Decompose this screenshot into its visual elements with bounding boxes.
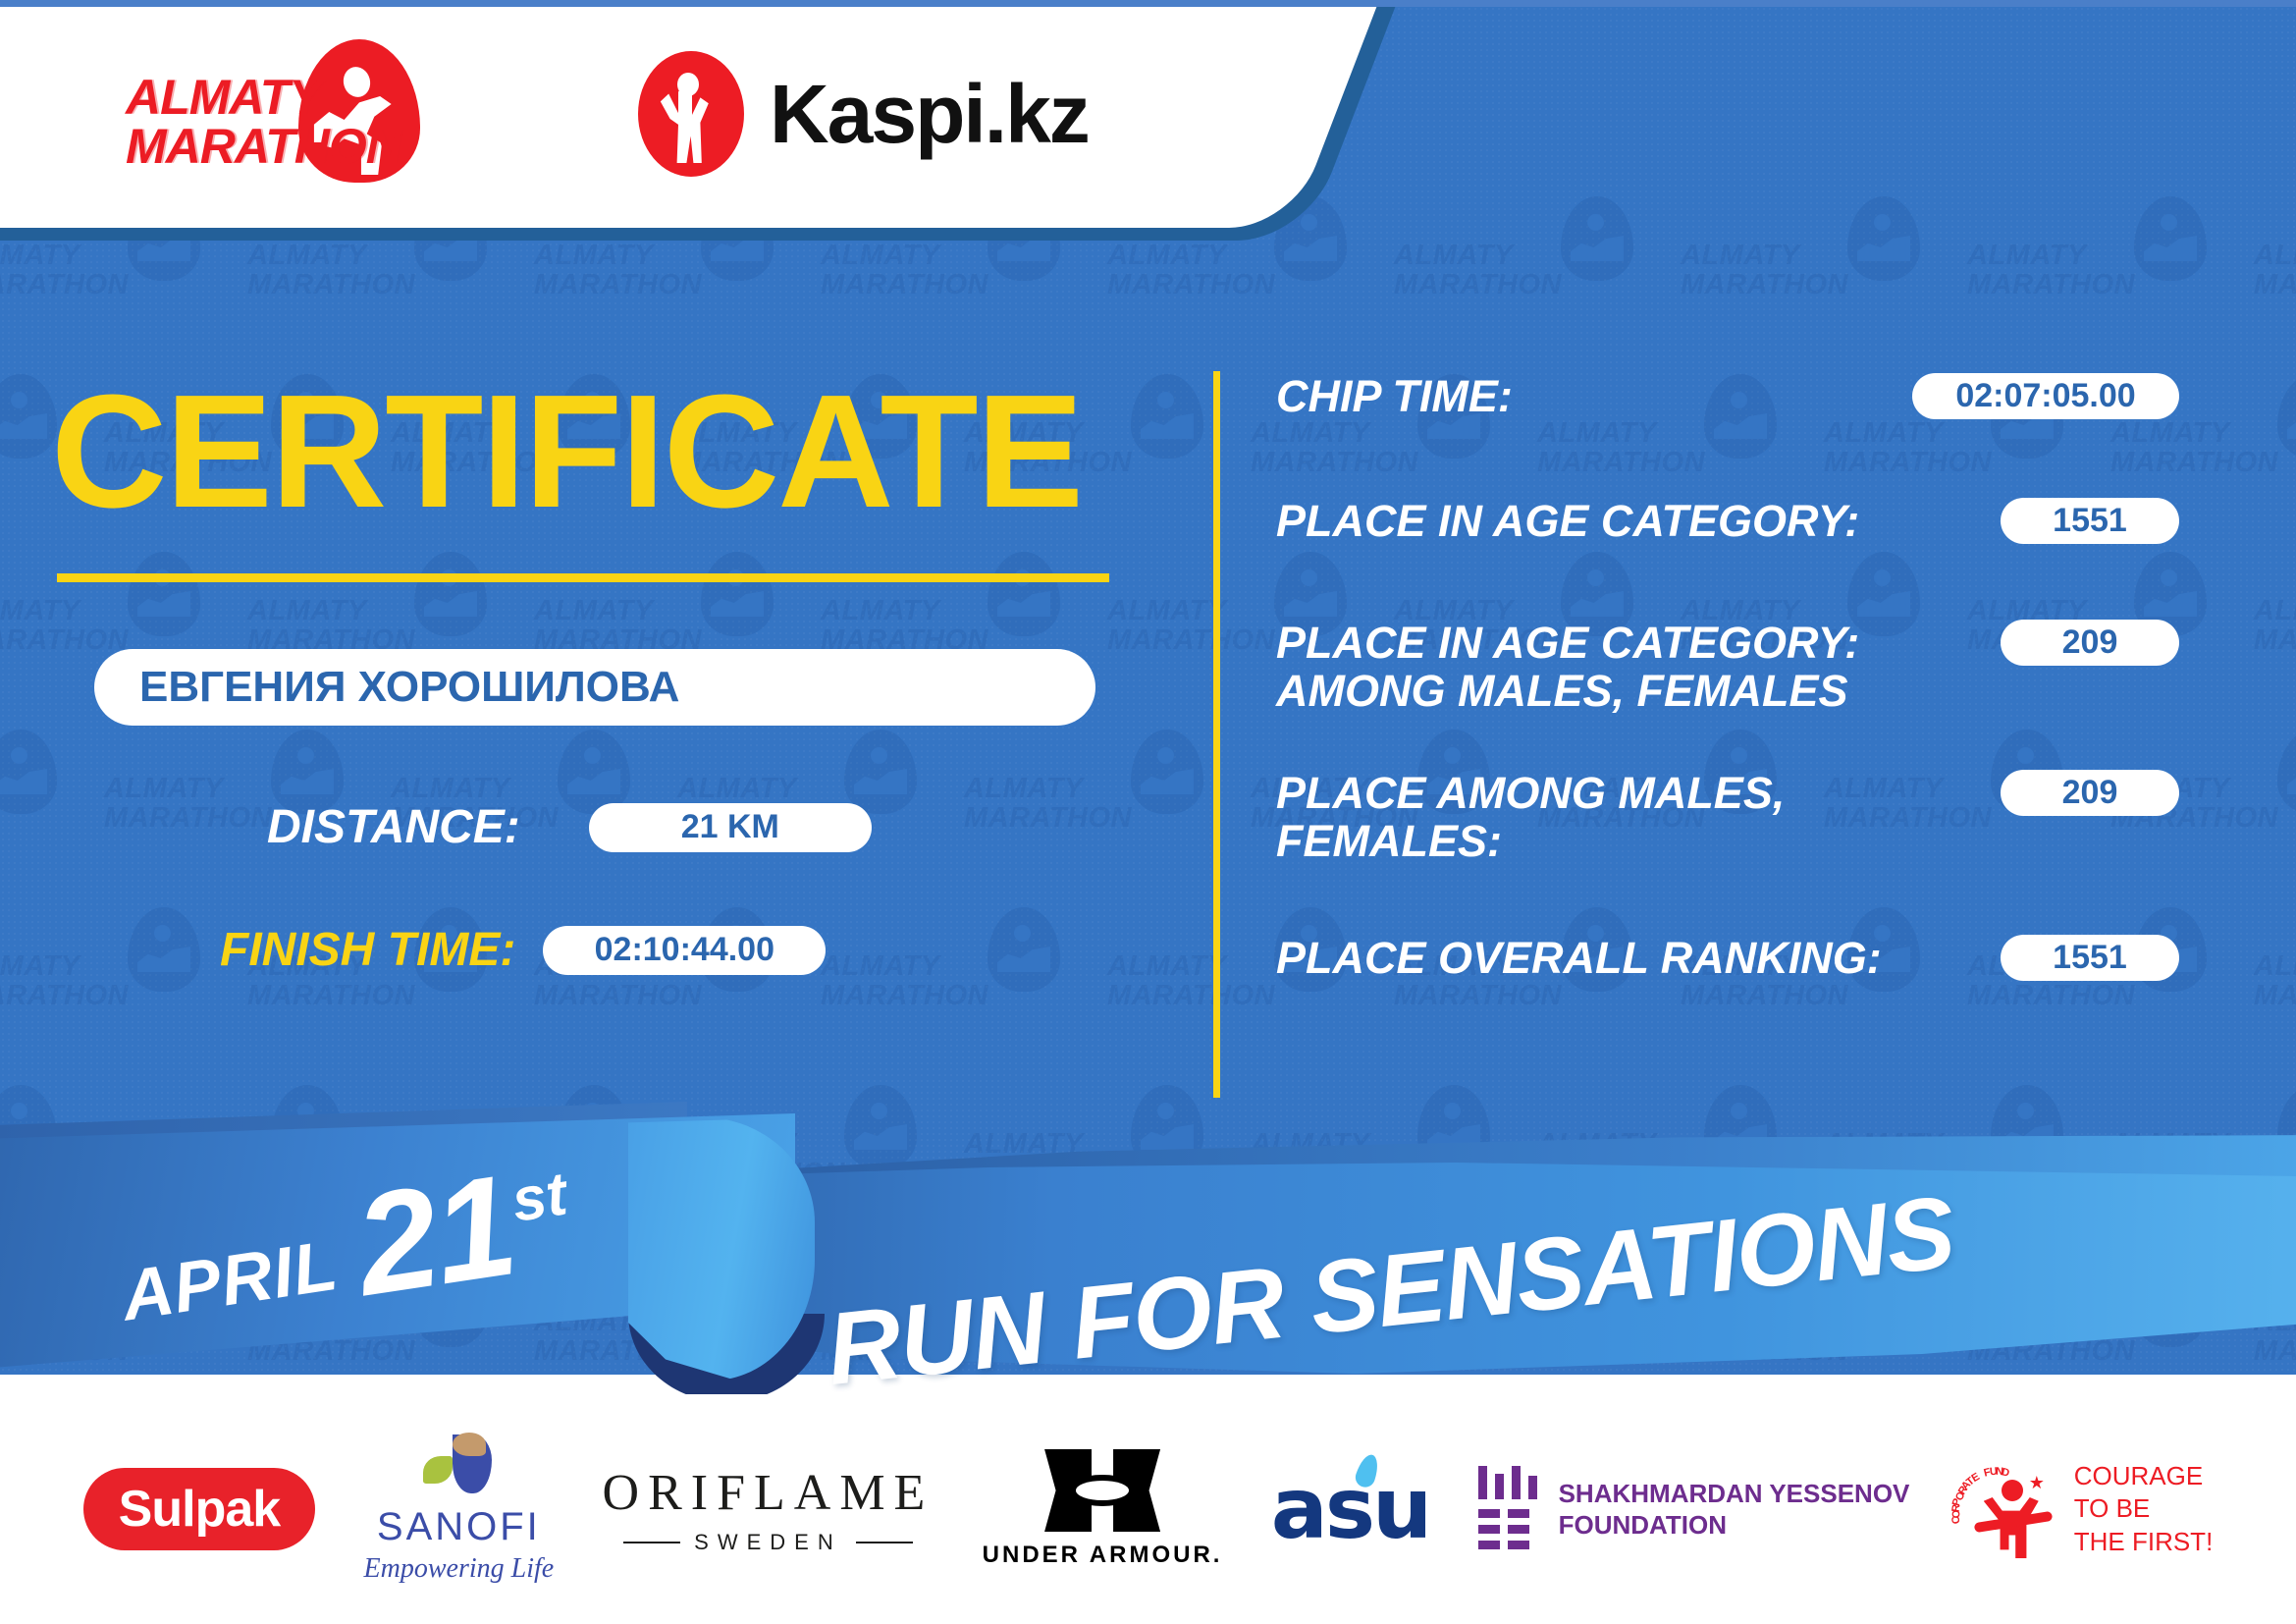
finish-time-value-field: 02:10:44.00: [543, 926, 826, 975]
vertical-divider: [1213, 371, 1220, 1098]
oriflame-logo-text: ORIFLAME: [603, 1464, 934, 1522]
title-underline: [57, 573, 1109, 582]
stat-value: 209: [2062, 623, 2118, 662]
oriflame-subtitle: SWEDEN: [694, 1530, 842, 1555]
finish-time-label: FINISH TIME:: [220, 923, 515, 977]
page-title: CERTIFICATE: [51, 371, 1082, 532]
finish-time-row: FINISH TIME: 02:10:44.00: [220, 923, 826, 977]
courage-figure-icon: CORPORATE FUND ★: [1958, 1458, 2060, 1560]
header: ALMATY MARATHON Kaspi.kz: [0, 0, 1335, 295]
stat-row: PLACE AMONG MALES, FEMALES:209: [1276, 770, 2179, 865]
stat-value-field: 209: [2001, 770, 2179, 816]
stats-panel: CHIP TIME:02:07:05.00PLACE IN AGE CATEGO…: [1276, 373, 2179, 1035]
sanofi-bird-icon: [421, 1435, 496, 1499]
stat-row: PLACE IN AGE CATEGORY:1551: [1276, 498, 2179, 546]
stat-value: 1551: [2053, 939, 2127, 977]
under-armour-logo-text: UNDER ARMOUR.: [983, 1542, 1223, 1569]
sponsor-logo-asu: asu: [1271, 1460, 1429, 1558]
oriflame-rule-left: [623, 1542, 680, 1543]
sponsor-logo-courage: CORPORATE FUND ★ COURAGE TO BE THE FIRST…: [1958, 1458, 2214, 1560]
stat-row: PLACE OVERALL RANKING:1551: [1276, 935, 2179, 983]
stat-value: 02:07:05.00: [1955, 377, 2135, 415]
stat-row: PLACE IN AGE CATEGORY: AMONG MALES, FEMA…: [1276, 620, 2179, 715]
stat-label: CHIP TIME:: [1276, 373, 1891, 421]
sponsor-bar: Sulpak SANOFI Empowering Life ORIFLAME S…: [0, 1394, 2296, 1624]
distance-value-field: 21 KM: [589, 803, 872, 852]
under-armour-icon: [1044, 1449, 1160, 1532]
almaty-marathon-logo-text: ALMATY MARATHON: [126, 73, 400, 171]
almaty-marathon-logo: ALMATY MARATHON: [126, 45, 430, 183]
stat-value-field: 1551: [2001, 935, 2179, 981]
courage-logo-text: COURAGE TO BE THE FIRST!: [2074, 1460, 2214, 1558]
stat-value: 209: [2062, 774, 2118, 812]
sulpak-logo-text: Sulpak: [119, 1480, 281, 1539]
sanofi-tagline: Empowering Life: [364, 1553, 555, 1585]
sponsor-logo-sanofi: SANOFI Empowering Life: [364, 1435, 555, 1585]
stat-row: CHIP TIME:02:07:05.00: [1276, 373, 2179, 421]
stat-label: PLACE AMONG MALES, FEMALES:: [1276, 770, 1979, 865]
event-day-ordinal: st: [507, 1159, 571, 1235]
participant-name-field: ЕВГЕНИЯ ХОРОШИЛОВА: [94, 649, 1095, 726]
event-day: 21: [348, 1160, 521, 1310]
top-accent-rule: [0, 0, 2296, 7]
stat-value-field: 209: [2001, 620, 2179, 666]
participant-name-value: ЕВГЕНИЯ ХОРОШИЛОВА: [139, 663, 679, 712]
stat-label: PLACE IN AGE CATEGORY: AMONG MALES, FEMA…: [1276, 620, 1979, 715]
ribbon-banner: APRIL 21 st RUN FOR SENSATIONS: [0, 1090, 2296, 1424]
asu-logo-text: asu: [1271, 1460, 1429, 1558]
distance-row: DISTANCE: 21 KM: [267, 800, 872, 854]
finish-time-value: 02:10:44.00: [595, 931, 774, 969]
yessenov-bars-icon: [1478, 1466, 1541, 1552]
sanofi-logo-text: SANOFI: [377, 1505, 541, 1549]
ribbon-fold: [628, 1117, 815, 1380]
yessenov-logo-text: SHAKHMARDAN YESSENOV FOUNDATION: [1559, 1478, 1910, 1542]
certificate-page: ALMATY MARATHONALMATY MARATHONALMATY MAR…: [0, 0, 2296, 1624]
kaspi-logo-text: Kaspi.kz: [770, 73, 1089, 155]
distance-value: 21 KM: [681, 808, 779, 846]
kaspi-logo: Kaspi.kz: [638, 51, 1089, 177]
stat-value: 1551: [2053, 502, 2127, 540]
sponsor-logo-sulpak: Sulpak: [83, 1468, 316, 1550]
sponsor-logo-yessenov: SHAKHMARDAN YESSENOV FOUNDATION: [1478, 1466, 1910, 1552]
stat-label: PLACE OVERALL RANKING:: [1276, 935, 1979, 983]
stat-value-field: 02:07:05.00: [1912, 373, 2179, 419]
stat-label: PLACE IN AGE CATEGORY:: [1276, 498, 1979, 546]
stat-value-field: 1551: [2001, 498, 2179, 544]
sponsor-logo-oriflame: ORIFLAME SWEDEN: [603, 1464, 934, 1555]
distance-label: DISTANCE:: [267, 800, 520, 854]
sponsor-logo-under-armour: UNDER ARMOUR.: [983, 1449, 1223, 1569]
kaspi-figure-icon: [638, 51, 744, 177]
oriflame-rule-right: [856, 1542, 913, 1543]
